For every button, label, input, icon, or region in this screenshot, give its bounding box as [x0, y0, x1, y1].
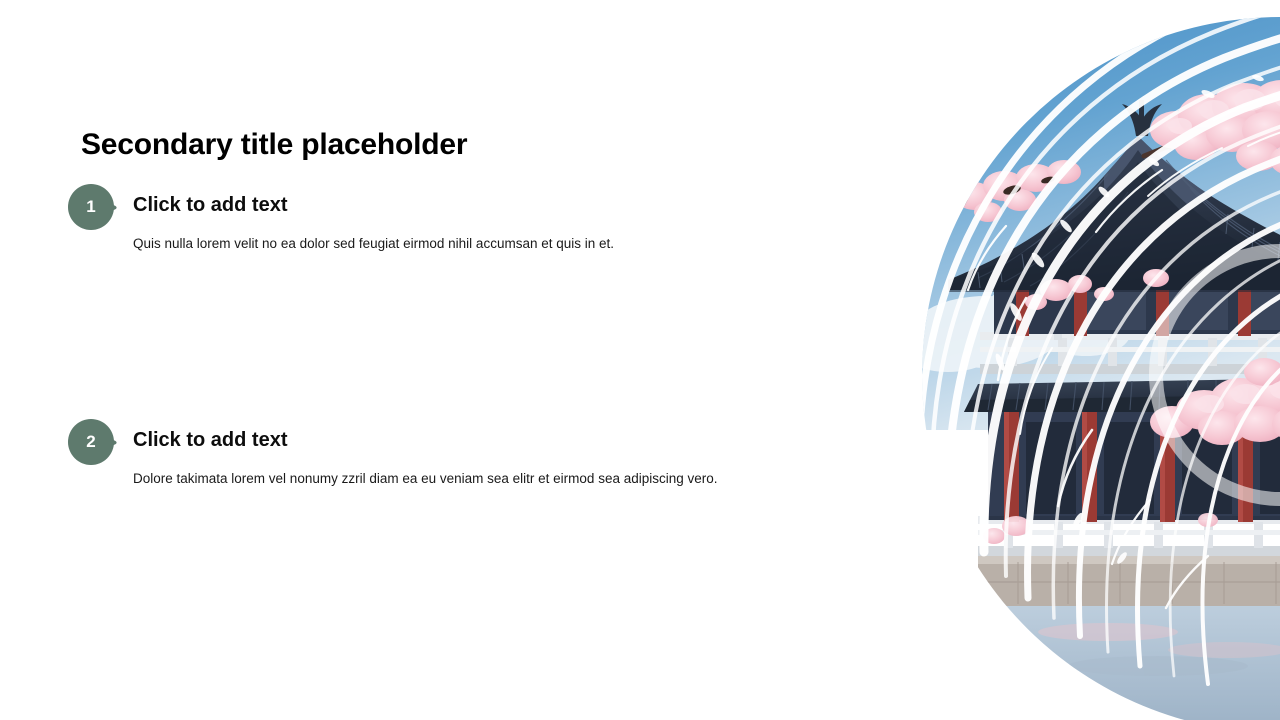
number-badge: 1 [68, 184, 120, 232]
slide-canvas: Secondary title placeholder 1 Click to a… [0, 0, 1280, 720]
number-badge-label: 1 [68, 184, 114, 230]
number-badge: 2 [68, 419, 120, 467]
content-column: Secondary title placeholder 1 Click to a… [0, 0, 900, 720]
list-item-body[interactable]: Quis nulla lorem velit no ea dolor sed f… [133, 234, 893, 254]
page-title: Secondary title placeholder [81, 128, 467, 162]
decorative-ring-image [908, 0, 1280, 720]
number-badge-label: 2 [68, 419, 114, 465]
list-item-heading[interactable]: Click to add text [133, 429, 287, 452]
list-item-body[interactable]: Dolore takimata lorem vel nonumy zzril d… [133, 469, 893, 489]
list-item-heading[interactable]: Click to add text [133, 194, 287, 217]
